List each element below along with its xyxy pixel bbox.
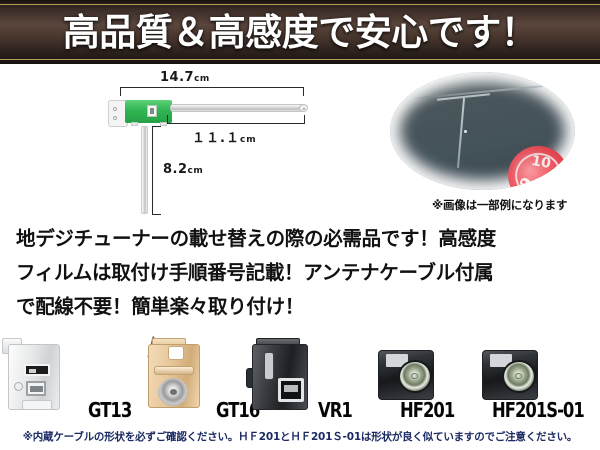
vr1-rail [264, 352, 274, 380]
hf201s01-barrel-port [502, 360, 536, 393]
film-nub-right [160, 122, 167, 126]
antenna-film-diagram: 14.7cm １１.１cm 8.2cm [0, 64, 360, 220]
windshield-edge-line [412, 82, 571, 99]
dimension-bracket-mid [167, 115, 305, 124]
film-vertical-element [141, 126, 148, 214]
header-banner: 高品質＆高感度で安心です！ [0, 0, 600, 64]
gt13-knob [14, 382, 23, 391]
dimension-unit-height: cm [188, 166, 204, 176]
description-line-2: フィルムは取付け手順番号記載！アンテナケーブル付属 [16, 256, 584, 290]
description-block: 地デジチューナーの載せ替えの際の必需品です！高感度 フィルムは取付け手順番号記載… [0, 222, 600, 326]
gt13-lower-port [26, 381, 46, 396]
windshield-photo-oval: 9 10 [390, 72, 575, 190]
connector-label-vr1: VR1 [318, 398, 352, 422]
film-eyelet-lower [113, 116, 117, 120]
gt13-foot [22, 400, 52, 410]
dimension-label-width-element: １１.１cm [192, 127, 257, 146]
gt16-contact-bar [154, 366, 194, 375]
inspection-sticker: 9 10 [501, 138, 575, 190]
sticker-number-9: 9 [516, 174, 537, 190]
connector-label-gt13: GT13 [88, 398, 131, 422]
description-line-1: 地デジチューナーの載せ替えの際の必需品です！高感度 [16, 222, 584, 256]
installed-antenna-marker [464, 130, 467, 133]
connector-label-hf201: HF201 [400, 398, 454, 422]
hf201s01-center-pin [515, 373, 522, 379]
footer-note: ※内蔵ケーブルの形状を必ずご確認ください。ＨＦ201とＨＦ201Ｓ-01は形状が… [0, 429, 600, 444]
gt16-notch [168, 346, 184, 360]
dimension-label-height: 8.2cm [163, 162, 203, 177]
photo-caption: ※画像は一部例になります [432, 197, 567, 213]
vr1-port [278, 378, 304, 402]
footer-note-text: ※内蔵ケーブルの形状を必ずご確認ください。ＨＦ201とＨＦ201Ｓ-01は形状が… [0, 429, 600, 444]
header-rule-top [0, 4, 600, 5]
film-horizontal-tip [299, 104, 308, 112]
sticker-number-10: 10 [530, 153, 552, 172]
dimension-bracket-vertical [152, 126, 161, 215]
hf201-barrel-port [398, 360, 432, 393]
film-nub-left [131, 122, 138, 126]
hf201-center-pin [411, 373, 418, 379]
connector-gallery: GT13 GT16 VR1 HF201 HF201S-01 [0, 330, 600, 426]
description-line-3: で配線不要！簡単楽々取り付け！ [16, 290, 584, 324]
film-horizontal-element [170, 104, 305, 112]
header-title: 高品質＆高感度で安心です！ [63, 14, 538, 51]
diagram-band: 14.7cm １１.１cm 8.2cm 9 [0, 64, 600, 220]
film-chip-marker [147, 105, 157, 117]
installed-antenna-vertical [457, 98, 465, 168]
gt16-center-pin [170, 389, 177, 395]
windshield-photo: 9 10 [390, 72, 575, 192]
dimension-value-height: 8.2 [163, 162, 188, 177]
dimension-value-width-total: 14.7 [160, 70, 194, 85]
dimension-bracket-top [120, 87, 304, 96]
dimension-unit-width-total: cm [194, 74, 210, 84]
header-rule-bottom [0, 59, 600, 60]
connector-label-hf201s01: HF201S-01 [492, 398, 584, 422]
gt13-upper-port [24, 364, 50, 376]
dimension-label-width-total: 14.7cm [160, 70, 210, 85]
dimension-unit-width-element: cm [240, 135, 257, 145]
dimension-value-width-element: １１.１ [192, 131, 240, 146]
film-eyelet-upper [113, 107, 117, 111]
